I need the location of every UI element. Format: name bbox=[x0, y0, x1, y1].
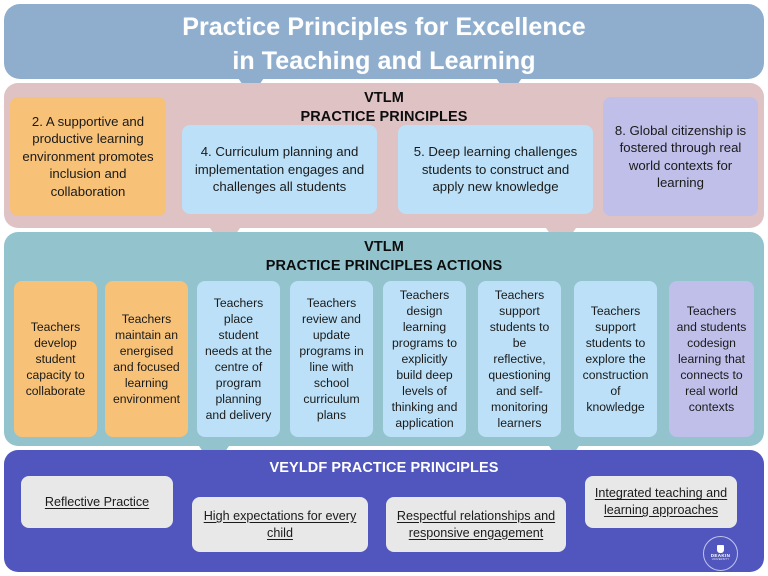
action-card-7[interactable]: Teachers support students to explore the… bbox=[574, 281, 657, 437]
header-title-line-2: in Teaching and Learning bbox=[4, 45, 764, 79]
header-band: Practice Principles for Excellence in Te… bbox=[4, 4, 764, 79]
action-card-6[interactable]: Teachers support students to be reflecti… bbox=[478, 281, 561, 437]
practice-principles-actions-title: VTLM PRACTICE PRINCIPLES ACTIONS bbox=[4, 238, 764, 275]
veyldf-card-integrated-teaching[interactable]: Integrated teaching and learning approac… bbox=[585, 476, 737, 528]
action-card-2[interactable]: Teachers maintain an energised and focus… bbox=[105, 281, 188, 437]
action-card-3[interactable]: Teachers place student needs at the cent… bbox=[197, 281, 280, 437]
veyldf-card-high-expectations[interactable]: High expectations for every child bbox=[192, 497, 368, 552]
practice-principle-card-4[interactable]: 4. Curriculum planning and implementatio… bbox=[182, 125, 377, 214]
header-title: Practice Principles for Excellence in Te… bbox=[4, 11, 764, 78]
practice-principle-card-8[interactable]: 8. Global citizenship is fostered throug… bbox=[603, 97, 758, 216]
veyldf-card-respectful-relationships[interactable]: Respectful relationships and responsive … bbox=[386, 497, 566, 552]
practice-principle-card-2[interactable]: 2. A supportive and productive learning … bbox=[10, 97, 166, 216]
deakin-crest-icon bbox=[717, 545, 724, 553]
veyldf-title: VEYLDF PRACTICE PRINCIPLES bbox=[4, 459, 764, 478]
action-card-1[interactable]: Teachers develop student capacity to col… bbox=[14, 281, 97, 437]
action-card-5[interactable]: Teachers design learning programs to exp… bbox=[383, 281, 466, 437]
deakin-university-logo-icon: DEAKIN UNIVERSITY bbox=[703, 536, 738, 571]
poster-canvas: Practice Principles for Excellence in Te… bbox=[0, 0, 768, 576]
veyldf-card-reflective-practice[interactable]: Reflective Practice bbox=[21, 476, 173, 528]
header-title-line-1: Practice Principles for Excellence bbox=[4, 11, 764, 45]
ppa-title-line-2: PRACTICE PRINCIPLES ACTIONS bbox=[4, 257, 764, 276]
ppa-title-line-1: VTLM bbox=[4, 238, 764, 257]
deakin-logo-subtitle: UNIVERSITY bbox=[712, 559, 730, 562]
action-card-8[interactable]: Teachers and students codesign learning … bbox=[669, 281, 754, 437]
practice-principle-card-5[interactable]: 5. Deep learning challenges students to … bbox=[398, 125, 593, 214]
action-card-4[interactable]: Teachers review and update programs in l… bbox=[290, 281, 373, 437]
